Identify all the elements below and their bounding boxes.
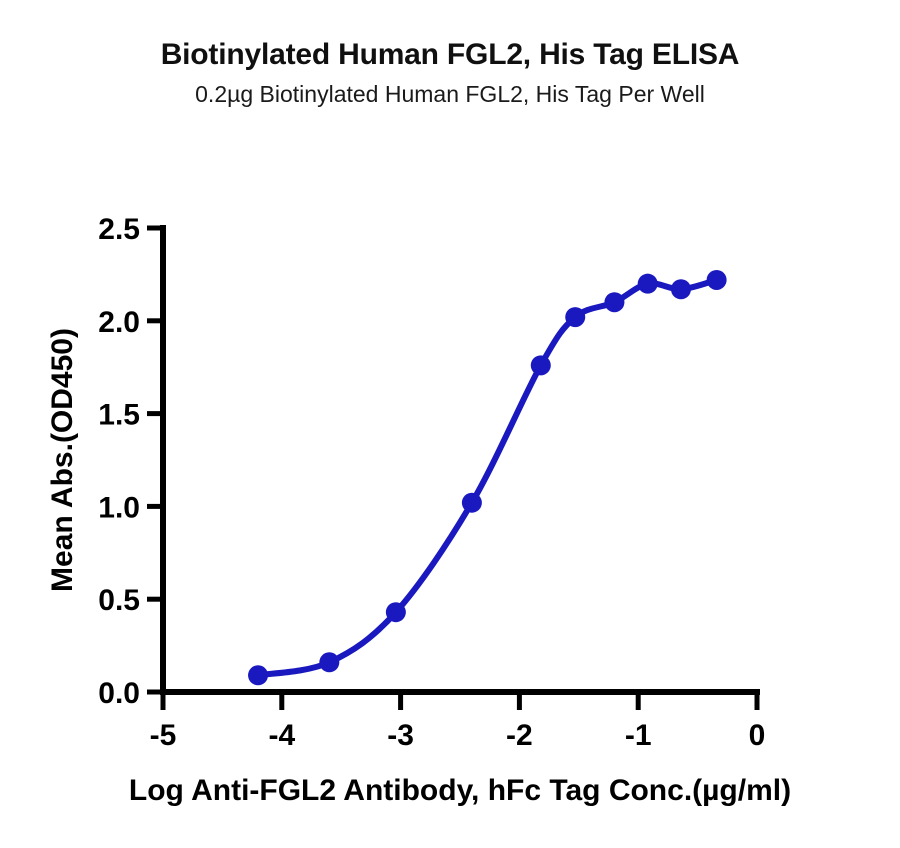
data-point-marker <box>604 292 624 312</box>
y-tick-label: 1.5 <box>98 399 140 432</box>
x-tick-label: -4 <box>268 719 295 752</box>
x-tick-label: 0 <box>749 719 766 752</box>
plot-area: 2.5 2.0 1.5 1.0 0.5 0.0 -5 -4 -3 -2 -1 0… <box>0 0 900 848</box>
y-tick-labels: 2.5 2.0 1.5 1.0 0.5 0.0 <box>98 213 140 710</box>
x-tick-labels: -5 -4 -3 -2 -1 0 <box>150 719 766 752</box>
chart-figure: Biotinylated Human FGL2, His Tag ELISA 0… <box>0 0 900 848</box>
y-axis-title: Mean Abs.(OD450) <box>46 328 79 592</box>
data-point-marker <box>319 652 339 672</box>
x-axis-title: Log Anti-FGL2 Antibody, hFc Tag Conc.(µg… <box>129 774 791 807</box>
x-tick-label: -5 <box>150 719 177 752</box>
data-series <box>248 270 727 685</box>
data-point-marker <box>671 279 691 299</box>
y-tick-label: 1.0 <box>98 491 140 524</box>
data-point-marker <box>707 270 727 290</box>
data-point-marker <box>248 665 268 685</box>
series-line <box>258 280 717 675</box>
x-tick-label: -3 <box>387 719 414 752</box>
y-tick-label: 0.0 <box>98 677 140 710</box>
data-point-marker <box>565 307 585 327</box>
y-tick-label: 2.0 <box>98 306 140 339</box>
data-point-marker <box>638 274 658 294</box>
data-point-marker <box>386 602 406 622</box>
x-tick-label: -2 <box>506 719 533 752</box>
data-point-marker <box>462 493 482 513</box>
x-tick-label: -1 <box>625 719 652 752</box>
y-tick-label: 0.5 <box>98 584 140 617</box>
y-tick-label: 2.5 <box>98 213 140 246</box>
data-point-marker <box>531 355 551 375</box>
